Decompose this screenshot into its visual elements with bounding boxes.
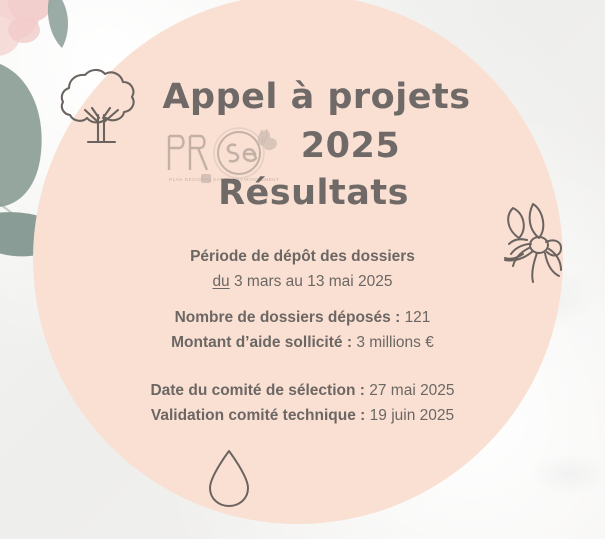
section-dates: Date du comité de sélection : 27 mai 202… (0, 378, 605, 428)
date-label-selection: Date du comité de sélection (150, 382, 355, 399)
page-title-line-1: Appel à projets (28, 80, 605, 115)
date-sep-technique: : (356, 407, 370, 424)
poster-content: Appel à projets 2025 Résultats (0, 0, 605, 539)
prse-logo: PLAN REGIONAL SANTE ENVIRONNEMENT (163, 126, 283, 188)
date-value-selection: 27 mai 2025 (369, 382, 454, 399)
periode-value-row: du 3 mars au 13 mai 2025 (0, 269, 605, 294)
chiffre-value-dossiers: 121 (405, 309, 431, 326)
periode-label-row: Période de dépôt des dossiers (0, 244, 605, 269)
chiffre-row-dossiers: Nombre de dossiers déposés : 121 (0, 305, 605, 330)
title-block: Appel à projets 2025 Résultats (0, 80, 605, 211)
poster-canvas: Appel à projets 2025 Résultats (0, 0, 605, 539)
chiffre-row-montant: Montant d’aide sollicité : 3 millions € (0, 330, 605, 355)
chiffre-value-montant: 3 millions € (356, 334, 434, 351)
svg-text:PLAN REGIONAL: PLAN REGIONAL (169, 177, 213, 182)
chiffre-label-montant: Montant d’aide sollicité (171, 334, 342, 351)
date-row-selection: Date du comité de sélection : 27 mai 202… (0, 378, 605, 403)
section-chiffres: Nombre de dossiers déposés : 121 Montant… (0, 305, 605, 355)
date-row-technique: Validation comité technique : 19 juin 20… (0, 403, 605, 428)
chiffre-sep-montant: : (343, 334, 357, 351)
section-periode-depot: Période de dépôt des dossiers du 3 mars … (0, 244, 605, 294)
svg-text:SANTE ENVIRONNEMENT: SANTE ENVIRONNEMENT (213, 177, 279, 182)
periode-value: 3 mars au 13 mai 2025 (234, 273, 393, 290)
date-label-technique: Validation comité technique (151, 407, 356, 424)
chiffre-sep-dossiers: : (391, 309, 405, 326)
periode-label: Période de dépôt des dossiers (190, 248, 415, 265)
date-value-technique: 19 juin 2025 (370, 407, 454, 424)
date-sep-selection: : (355, 382, 369, 399)
periode-value-underlined: du (212, 273, 229, 290)
page-title-line-3: Résultats (22, 176, 605, 211)
chiffre-label-dossiers: Nombre de dossiers déposés (175, 309, 391, 326)
water-droplet-icon (206, 448, 252, 508)
